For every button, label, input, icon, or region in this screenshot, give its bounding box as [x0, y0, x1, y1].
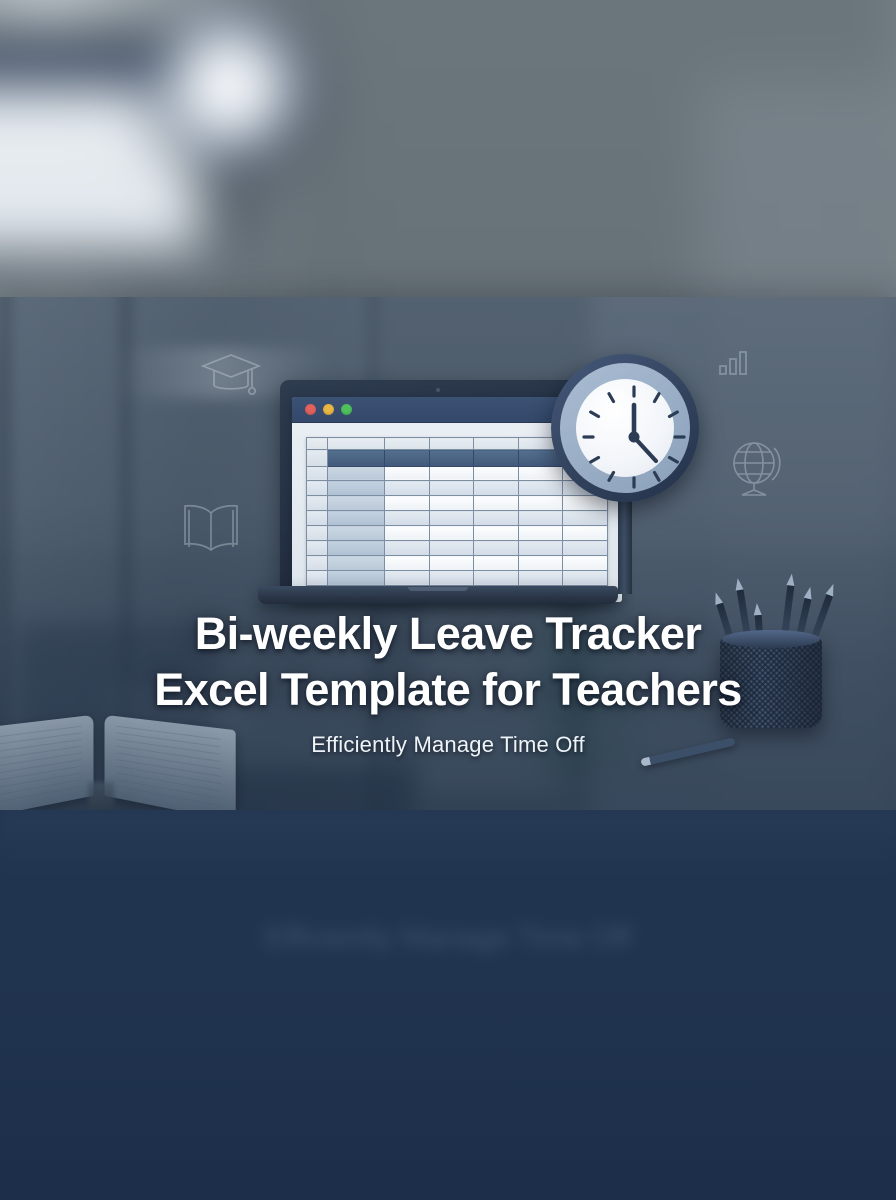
- hero-panel: Bi-weekly Leave Tracker Excel Template f…: [0, 297, 896, 810]
- table-row: [307, 541, 608, 556]
- lower-tint: [0, 810, 896, 1200]
- table-row: [307, 570, 608, 585]
- table-row: [307, 511, 608, 526]
- clock-bezel: [154, 12, 308, 166]
- clock-face: [180, 38, 282, 140]
- headline-line-2: Excel Template for Teachers: [0, 662, 896, 718]
- headline-line-1: Bi-weekly Leave Tracker: [0, 606, 896, 662]
- maximize-dot[interactable]: [341, 404, 352, 415]
- subtitle: Efficiently Manage Time Off: [0, 732, 896, 758]
- book-spine: [88, 782, 114, 810]
- laptop-camera: [436, 388, 440, 392]
- table-row: [307, 526, 608, 541]
- clock-hands-icon: [576, 379, 692, 495]
- minimize-dot[interactable]: [323, 404, 334, 415]
- laptop-base: [0, 257, 196, 276]
- laptop-notch: [408, 587, 468, 591]
- bar-chart-icon: [718, 350, 748, 376]
- title-block: Bi-weekly Leave Tracker Excel Template f…: [0, 606, 896, 758]
- clock-ring: [163, 21, 298, 156]
- table-row: [307, 556, 608, 571]
- graduation-cap-icon: [200, 350, 262, 398]
- clock-face: [576, 379, 674, 477]
- laptop-base: [258, 586, 618, 604]
- globe-icon: [728, 440, 788, 498]
- clock-ring: [560, 363, 690, 493]
- clock-bezel: [551, 354, 699, 502]
- open-book-icon: [178, 500, 244, 554]
- lower-blur-band: Efficiently Manage Time Off: [0, 810, 896, 1200]
- close-dot[interactable]: [305, 404, 316, 415]
- wall-clock-backdrop: [154, 12, 308, 166]
- wall-clock: [551, 354, 699, 502]
